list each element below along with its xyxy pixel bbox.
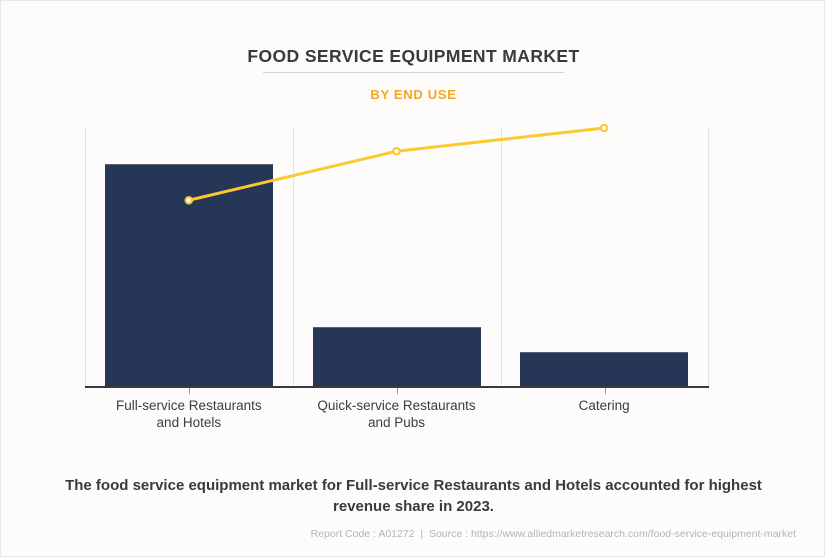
x-label-1: Quick-service Restaurantsand Pubs xyxy=(293,397,501,431)
gridline-3 xyxy=(708,128,709,386)
bar-1 xyxy=(313,327,481,387)
chart-caption: The food service equipment market for Fu… xyxy=(41,475,786,517)
line-marker-1 xyxy=(393,148,399,154)
axis-tick-1 xyxy=(397,388,398,394)
gridline-2 xyxy=(501,128,502,386)
axis-tick-0 xyxy=(189,388,190,394)
gridline-0 xyxy=(85,128,86,386)
axis-tick-2 xyxy=(605,388,606,394)
gridline-1 xyxy=(293,128,294,386)
x-label-0: Full-service Restaurantsand Hotels xyxy=(85,397,293,431)
chart-footer: Report Code : A01272 | Source : https://… xyxy=(1,528,796,540)
x-label-2: Catering xyxy=(500,397,708,414)
plot-area: Full-service Restaurantsand HotelsQuick-… xyxy=(1,1,825,401)
footer-separator: | xyxy=(415,528,429,540)
source-link[interactable]: Source : https://www.alliedmarketresearc… xyxy=(429,528,796,540)
bar-0 xyxy=(105,164,273,387)
bar-2 xyxy=(520,352,688,387)
line-marker-2 xyxy=(601,125,607,131)
chart-card: FOOD SERVICE EQUIPMENT MARKET BY END USE… xyxy=(0,0,825,557)
report-code: Report Code : A01272 xyxy=(311,528,415,540)
